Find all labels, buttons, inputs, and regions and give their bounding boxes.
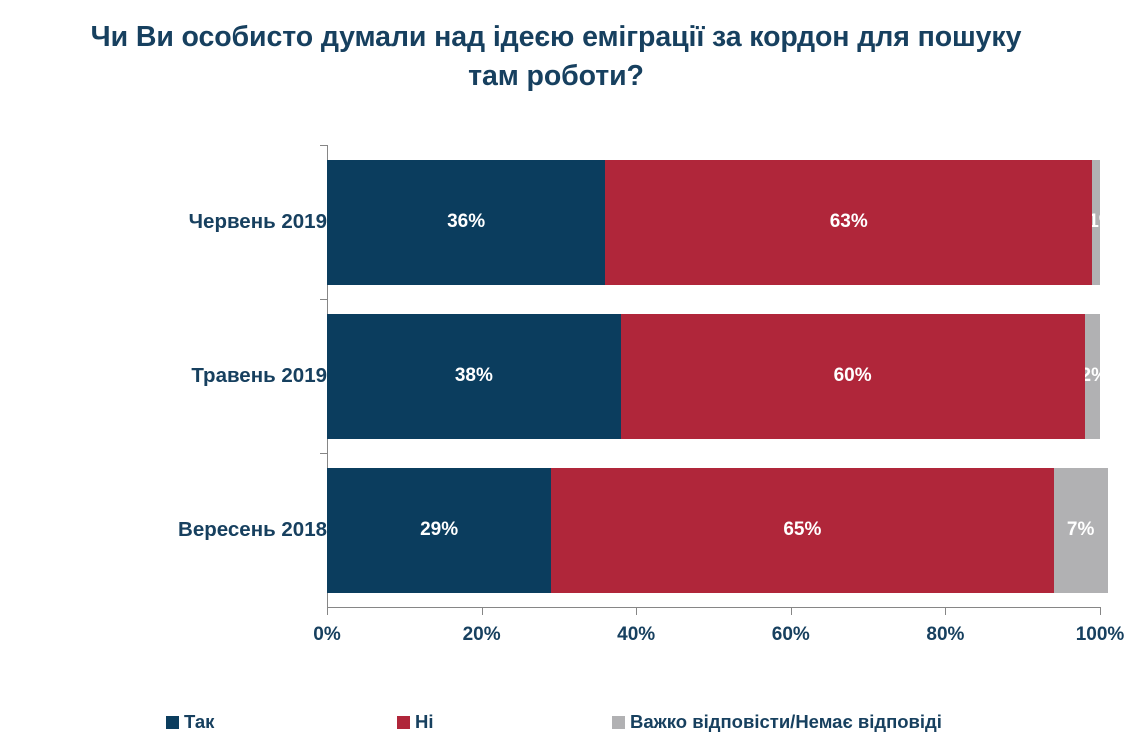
bar-segment[interactable]: 65% bbox=[551, 468, 1053, 593]
value-axis-tick bbox=[1100, 608, 1101, 615]
category-label-1: Травень 2019 bbox=[10, 364, 327, 388]
value-axis-tick bbox=[327, 608, 328, 615]
bar-group: 29%65%7% bbox=[327, 468, 1100, 593]
bar-segment[interactable]: 7% bbox=[1054, 468, 1108, 593]
category-label-2: Вересень 2018 bbox=[10, 518, 327, 542]
bar-segment[interactable]: 1% bbox=[1092, 160, 1100, 285]
chart-legend: ТакНіВажко відповісти/Немає відповіді bbox=[0, 713, 1133, 743]
bar-group: 38%60%2% bbox=[327, 314, 1100, 439]
bar-segment-label: 63% bbox=[605, 211, 1092, 233]
value-axis-tick bbox=[482, 608, 483, 615]
bar-segment-label: 1% bbox=[1092, 211, 1100, 233]
bar-segment-label: 7% bbox=[1054, 519, 1108, 541]
value-axis-line bbox=[327, 607, 1101, 608]
bar-segment[interactable]: 63% bbox=[605, 160, 1092, 285]
legend-item-2[interactable]: Важко відповісти/Немає відповіді bbox=[612, 713, 942, 732]
value-axis-tick bbox=[636, 608, 637, 615]
bar-segment[interactable]: 29% bbox=[327, 468, 551, 593]
legend-swatch-icon bbox=[166, 716, 179, 729]
value-axis-label-0: 0% bbox=[313, 624, 340, 646]
legend-label: Важко відповісти/Немає відповіді bbox=[630, 713, 942, 732]
category-label-0: Червень 2019 bbox=[10, 210, 327, 234]
value-axis-label-3: 60% bbox=[772, 624, 810, 646]
bar-segment-label: 38% bbox=[327, 365, 621, 387]
bar-group: 36%63%1% bbox=[327, 160, 1100, 285]
category-axis-tick bbox=[320, 299, 327, 300]
value-axis-label-4: 80% bbox=[926, 624, 964, 646]
value-axis-tick bbox=[791, 608, 792, 615]
legend-swatch-icon bbox=[397, 716, 410, 729]
legend-swatch-icon bbox=[612, 716, 625, 729]
legend-label: Так bbox=[184, 713, 214, 732]
plot-area: 36%63%1%38%60%2%29%65%7% bbox=[327, 145, 1100, 607]
value-axis-label-2: 40% bbox=[617, 624, 655, 646]
bar-segment-label: 2% bbox=[1085, 365, 1100, 387]
legend-item-0[interactable]: Так bbox=[166, 713, 214, 732]
bar-segment-label: 60% bbox=[621, 365, 1085, 387]
bar-segment[interactable]: 38% bbox=[327, 314, 621, 439]
bar-segment[interactable]: 36% bbox=[327, 160, 605, 285]
category-axis-tick bbox=[320, 145, 327, 146]
bar-segment-label: 65% bbox=[551, 519, 1053, 541]
bar-segment[interactable]: 2% bbox=[1085, 314, 1100, 439]
bar-segment-label: 29% bbox=[327, 519, 551, 541]
category-axis-labels: Червень 2019Травень 2019Вересень 2018 bbox=[0, 0, 327, 755]
value-axis-tick bbox=[945, 608, 946, 615]
category-axis-tick bbox=[320, 453, 327, 454]
legend-item-1[interactable]: Ні bbox=[397, 713, 434, 732]
bar-segment[interactable]: 60% bbox=[621, 314, 1085, 439]
bar-segment-label: 36% bbox=[327, 211, 605, 233]
value-axis-label-1: 20% bbox=[463, 624, 501, 646]
legend-label: Ні bbox=[415, 713, 434, 732]
value-axis-label-5: 100% bbox=[1076, 624, 1125, 646]
